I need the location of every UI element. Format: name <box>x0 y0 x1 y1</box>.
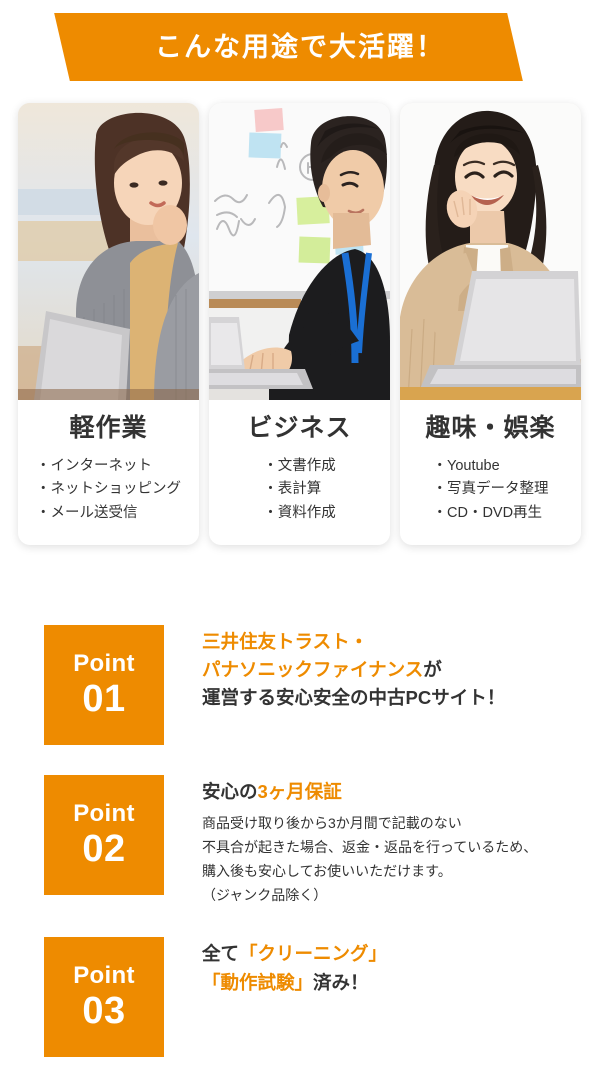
point-heading-line2-highlight: パナソニックファイナンス <box>202 659 423 680</box>
point-body-line: 商品受け取り後から3か月間で記載のない <box>202 811 537 835</box>
card-title: 趣味・娯楽 <box>408 414 573 443</box>
card-text-block: 趣味・娯楽 ・Youtube ・写真データ整理 ・CD・DVD再生 <box>400 400 581 545</box>
use-case-card[interactable]: 軽作業 ・インターネット ・ネットショッピング ・メール送受信 <box>18 103 199 545</box>
point-word: Point <box>73 964 135 988</box>
point-heading: 安心の3ヶ月保証 <box>202 778 537 806</box>
point-word: Point <box>73 802 135 826</box>
point-heading-line2-highlight: 「動作試験」 <box>202 972 313 993</box>
card-feature-list: ・インターネット ・ネットショッピング ・メール送受信 <box>36 455 181 525</box>
use-case-card[interactable]: 趣味・娯楽 ・Youtube ・写真データ整理 ・CD・DVD再生 <box>400 103 581 545</box>
use-case-card[interactable]: ビジネス ・文書作成 ・表計算 ・資料作成 <box>209 103 390 545</box>
point-text-block: 全て「クリーニング」 「動作試験」済み！ <box>164 937 387 996</box>
list-item: ・インターネット <box>36 455 181 478</box>
point-heading-line3-plain: 運営する安心安全の中古PCサイト！ <box>202 687 505 708</box>
point-number: 02 <box>82 830 125 868</box>
list-item: ・資料作成 <box>263 502 336 525</box>
point-heading-line2-plain: が <box>423 659 442 680</box>
list-item: ・表計算 <box>263 478 336 501</box>
card-text-block: ビジネス ・文書作成 ・表計算 ・資料作成 <box>209 400 390 545</box>
card-title: ビジネス <box>217 414 382 443</box>
point-heading-line2-plain: 済み！ <box>313 972 369 993</box>
list-item: ・Youtube <box>433 455 549 478</box>
card-feature-list: ・Youtube ・写真データ整理 ・CD・DVD再生 <box>433 455 549 525</box>
point-heading-plain: 安心の <box>202 781 258 802</box>
point-heading-line1-plain: 全て <box>202 943 239 964</box>
point-heading-highlight: 3ヶ月保証 <box>258 781 342 802</box>
point-row: Point 03 全て「クリーニング」 「動作試験」済み！ <box>44 937 564 1057</box>
point-body-line: （ジャンク品除く） <box>202 883 537 907</box>
point-badge-02: Point 02 <box>44 775 164 895</box>
points-section: Point 01 三井住友トラスト・ パナソニックファイナンスが 運営する安心安… <box>44 625 564 1057</box>
list-item: ・メール送受信 <box>36 502 181 525</box>
point-word: Point <box>73 652 135 676</box>
card-title: 軽作業 <box>26 414 191 443</box>
point-number: 03 <box>82 992 125 1030</box>
list-item: ・文書作成 <box>263 455 336 478</box>
photo-man-with-lanyard <box>209 103 390 400</box>
point-heading-line1-highlight: 三井住友トラスト・ <box>202 631 368 652</box>
banner-title: こんな用途で大活躍！ <box>0 13 600 81</box>
point-text-block: 三井住友トラスト・ パナソニックファイナンスが 運営する安心安全の中古PCサイト… <box>164 625 505 712</box>
point-text-block: 安心の3ヶ月保証 商品受け取り後から3か月間で記載のない 不具合が起きた場合、返… <box>164 775 537 907</box>
point-heading: 三井住友トラスト・ パナソニックファイナンスが 運営する安心安全の中古PCサイト… <box>202 628 505 712</box>
photo-smiling-woman-laptop <box>400 103 581 400</box>
point-body-line: 購入後も安心してお使いいただけます。 <box>202 859 537 883</box>
list-item: ・CD・DVD再生 <box>433 502 549 525</box>
point-row: Point 02 安心の3ヶ月保証 商品受け取り後から3か月間で記載のない 不具… <box>44 775 564 907</box>
card-feature-list: ・文書作成 ・表計算 ・資料作成 <box>263 455 336 525</box>
point-body: 商品受け取り後から3か月間で記載のない 不具合が起きた場合、返金・返品を行ってい… <box>202 811 537 907</box>
point-row: Point 01 三井住友トラスト・ パナソニックファイナンスが 運営する安心安… <box>44 625 564 745</box>
point-badge-01: Point 01 <box>44 625 164 745</box>
point-badge-03: Point 03 <box>44 937 164 1057</box>
use-case-card-list: 軽作業 ・インターネット ・ネットショッピング ・メール送受信 <box>18 103 582 545</box>
photo-woman-gray-cardigan <box>18 103 199 400</box>
point-heading: 全て「クリーニング」 「動作試験」済み！ <box>202 940 387 996</box>
card-text-block: 軽作業 ・インターネット ・ネットショッピング ・メール送受信 <box>18 400 199 545</box>
point-heading-line1-highlight: 「クリーニング」 <box>239 943 387 964</box>
list-item: ・ネットショッピング <box>36 478 181 501</box>
point-body-line: 不具合が起きた場合、返金・返品を行っているため、 <box>202 835 537 859</box>
list-item: ・写真データ整理 <box>433 478 549 501</box>
point-number: 01 <box>82 680 125 718</box>
section-banner: こんな用途で大活躍！ <box>0 13 600 81</box>
